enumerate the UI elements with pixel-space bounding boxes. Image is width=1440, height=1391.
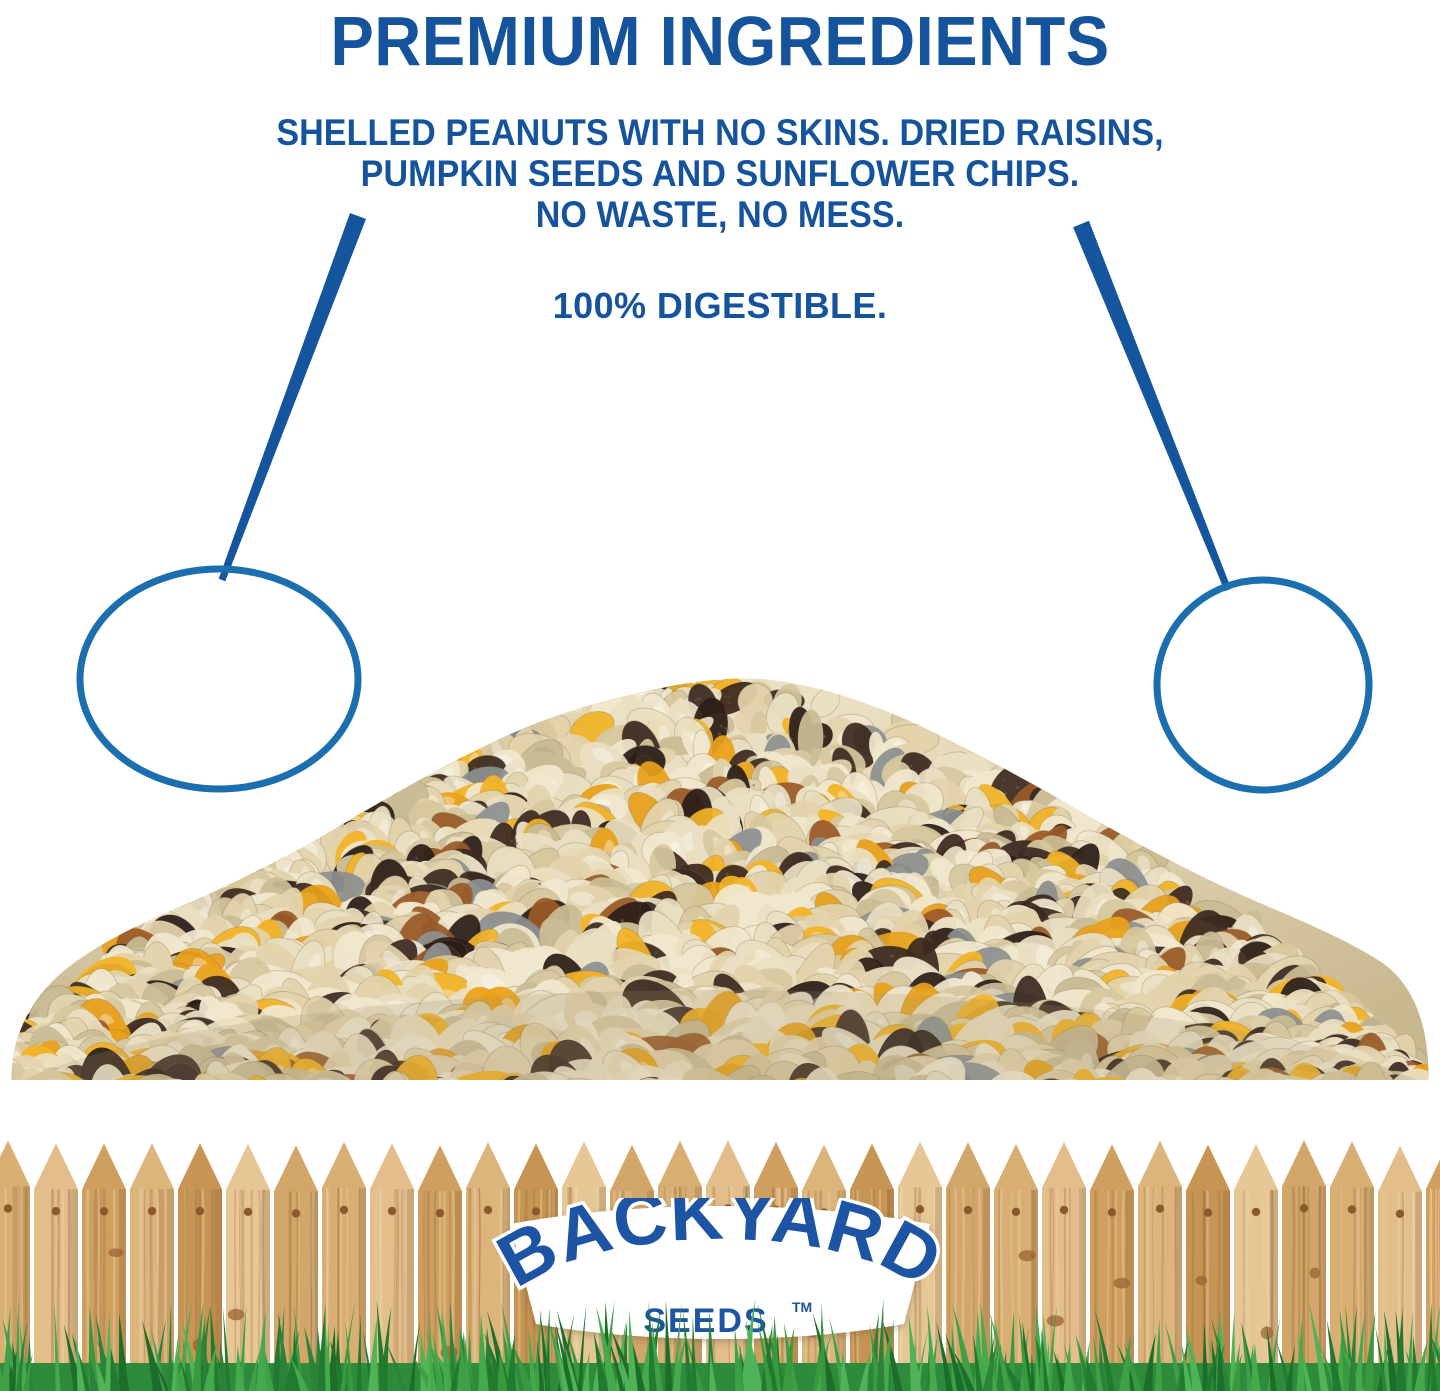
fence-knot (1019, 1250, 1036, 1261)
raisin-speckle (1247, 1080, 1249, 1082)
raisin-speckle (229, 1088, 232, 1091)
raisin-speckle (909, 1080, 912, 1083)
raisin-speckle (565, 1088, 567, 1090)
grass-blade (1155, 1319, 1162, 1391)
seed-highlight (217, 1077, 243, 1099)
seed-piece (446, 1076, 523, 1110)
raisin-speckle (439, 1102, 443, 1106)
raisin-speckle (88, 1104, 90, 1106)
raisin-speckle (726, 729, 729, 732)
seed-piece (45, 1075, 133, 1110)
seed-highlight (427, 1095, 463, 1110)
seed-piece (1204, 1077, 1247, 1110)
grass-blade (692, 1315, 697, 1391)
seed-piece (276, 1081, 336, 1110)
raisin-speckle (137, 1100, 140, 1103)
seed-piece (1046, 1078, 1111, 1110)
raisin-speckle (34, 1088, 36, 1090)
fence-nail (1012, 1208, 1020, 1216)
raisin-speckle (1030, 1103, 1032, 1105)
seed-piece (160, 1082, 236, 1110)
raisin-speckle (510, 840, 513, 843)
raisin-speckle (1318, 1098, 1321, 1101)
raisin-speckle (944, 1085, 946, 1087)
raisin-speckle (31, 1103, 34, 1106)
seed-highlight (383, 1081, 409, 1093)
seed-highlight (0, 1076, 5, 1110)
grass-blade (665, 1300, 673, 1391)
fence-nail (1348, 1205, 1356, 1213)
grass-blade (168, 1302, 173, 1391)
seed-highlight (0, 1081, 35, 1110)
seed-highlight (1407, 1104, 1440, 1110)
seed-highlight (456, 1097, 480, 1110)
raisin-speckle (390, 1086, 392, 1088)
seed-highlight (63, 1076, 94, 1106)
grass-blade (357, 1314, 362, 1391)
fence-nail (4, 1204, 12, 1212)
raisin-speckle (296, 1095, 299, 1098)
raisin-speckle (551, 1083, 553, 1085)
seed-piece (1186, 1079, 1247, 1110)
raisin-speckle (1232, 1087, 1234, 1089)
raisin-speckle (602, 1101, 605, 1104)
seed-piece (281, 1078, 380, 1110)
raisin-speckle (725, 695, 727, 697)
raisin-speckle (11, 1090, 14, 1093)
seed-highlight (732, 1098, 758, 1110)
raisin-speckle (97, 1096, 100, 1099)
raisin-speckle (378, 1085, 381, 1088)
raisin-speckle (1383, 1083, 1385, 1085)
seed-highlight (1291, 1077, 1324, 1100)
raisin-speckle (1060, 1105, 1063, 1108)
seed-piece (255, 1081, 317, 1110)
raisin-speckle (1373, 1095, 1376, 1098)
raisin-speckle (1381, 1083, 1384, 1086)
raisin-speckle (1123, 1094, 1125, 1096)
seed-piece (38, 1081, 133, 1110)
seed-highlight (3, 1084, 33, 1104)
raisin-speckle (882, 1080, 885, 1083)
seed-piece (1173, 1090, 1242, 1110)
seed-piece (29, 1076, 98, 1110)
raisin-speckle (1433, 1109, 1436, 1110)
raisin-speckle (181, 1104, 184, 1107)
seed-piece (0, 1081, 34, 1110)
seed-highlight (1380, 1083, 1403, 1110)
raisin-speckle (307, 1092, 310, 1095)
seed-piece (1094, 1077, 1143, 1110)
seed-piece (121, 1084, 209, 1110)
raisin-speckle (16, 1101, 19, 1104)
seed-piece (1276, 1075, 1330, 1110)
raisin-speckle (398, 1102, 400, 1104)
fence-nail (1252, 1208, 1260, 1216)
seed-highlight (14, 1095, 44, 1110)
raisin-speckle (1404, 1100, 1407, 1103)
raisin-speckle (255, 869, 257, 871)
seed-highlight (1169, 1075, 1185, 1108)
raisin-speckle (1419, 1086, 1421, 1088)
grass-blade (1297, 1317, 1305, 1391)
seed-highlight (1202, 1077, 1233, 1107)
product-marketing-image: PREMIUM INGREDIENTS SHELLED PEANUTS WITH… (0, 0, 1440, 1391)
fence-knot (1310, 1268, 1321, 1279)
seed-highlight (107, 1079, 125, 1110)
raisin-speckle (515, 842, 518, 845)
raisin-speckle (559, 1105, 562, 1108)
raisin-speckle (456, 751, 459, 754)
fence-nail (1060, 1206, 1068, 1214)
seed-highlight (1258, 1096, 1304, 1110)
fence-nail (196, 1207, 204, 1215)
raisin-speckle (87, 1088, 89, 1090)
raisin-speckle (1222, 1081, 1225, 1084)
raisin-speckle (1314, 1088, 1317, 1091)
fence-nail (436, 1209, 444, 1217)
fence-nail (1204, 1209, 1212, 1217)
raisin-speckle (1199, 1087, 1202, 1090)
raisin-speckle (390, 1085, 393, 1088)
seed-highlight (282, 1081, 298, 1102)
grass-blade (877, 1299, 885, 1391)
raisin-speckle (21, 1091, 23, 1093)
fence-nail (1300, 1204, 1308, 1212)
seed-highlight (1323, 1086, 1346, 1106)
seed-piece (441, 1088, 501, 1110)
raisin-speckle (395, 1108, 398, 1110)
seed-highlight (0, 1081, 11, 1107)
raisin-speckle (1364, 1088, 1366, 1090)
seed-highlight (1238, 1092, 1257, 1110)
seed-highlight (1413, 1080, 1436, 1110)
seed-piece (694, 1083, 775, 1110)
fence-knot (1196, 1276, 1208, 1286)
raisin-speckle (1114, 1091, 1117, 1094)
raisin-speckle (1366, 1086, 1369, 1089)
grass-blade (629, 1309, 638, 1391)
raisin-speckle (1247, 1085, 1250, 1088)
seed-piece (1376, 1085, 1440, 1110)
raisin-speckle (1264, 1092, 1266, 1094)
raisin-speckle (1211, 1101, 1214, 1104)
raisin-speckle (0, 1103, 2, 1106)
seed-highlight (281, 1102, 306, 1110)
raisin-speckle (1044, 1096, 1047, 1099)
fence-knot (109, 1248, 124, 1257)
seed-highlight (248, 1093, 272, 1110)
seed-piece (1269, 1077, 1314, 1110)
raisin-speckle (408, 1093, 411, 1096)
raisin-speckle (518, 1098, 521, 1101)
raisin-speckle (5, 1093, 8, 1096)
seed-highlight (1184, 1090, 1211, 1107)
page-title: PREMIUM INGREDIENTS (50, 4, 1389, 78)
fence-nail (484, 1206, 492, 1214)
seed-piece (705, 1076, 769, 1110)
raisin-speckle (387, 1094, 390, 1097)
raisin-speckle (493, 1109, 495, 1110)
raisin-speckle (17, 1088, 20, 1091)
raisin-speckle (621, 919, 624, 922)
raisin-speckle (299, 1088, 302, 1091)
raisin-speckle (449, 1093, 451, 1095)
raisin-speckle (1424, 1096, 1427, 1099)
raisin-speckle (482, 1082, 484, 1084)
seed-piece (0, 1076, 17, 1110)
raisin-speckle (474, 1088, 477, 1091)
fence-nail (292, 1209, 300, 1217)
raisin-speckle (1316, 1082, 1319, 1085)
raisin-speckle (1393, 1105, 1396, 1108)
raisin-speckle (1261, 1094, 1264, 1097)
seed-piece (0, 1079, 53, 1110)
raisin-speckle (457, 756, 459, 758)
seed-highlight (18, 1083, 42, 1110)
grass-blade (256, 1310, 267, 1391)
fence-nail (100, 1207, 108, 1215)
seed-highlight (24, 1084, 54, 1108)
seed-piece (1043, 1076, 1100, 1110)
raisin-speckle (298, 1094, 302, 1098)
raisin-speckle (5, 1097, 7, 1099)
raisin-speckle (49, 1102, 51, 1104)
seed-piece (1272, 1083, 1346, 1110)
raisin-speckle (431, 1097, 433, 1099)
grass-blade (821, 1301, 827, 1391)
raisin-speckle (1417, 1094, 1419, 1096)
raisin-speckle (1223, 1106, 1225, 1108)
raisin-speckle (698, 698, 701, 701)
seed-highlight (359, 782, 380, 801)
raisin-speckle (1229, 1106, 1231, 1108)
raisin-speckle (0, 1092, 1, 1094)
seed-piece (183, 1076, 241, 1110)
raisin-speckle (1380, 1081, 1382, 1083)
fence-nail (1108, 1208, 1116, 1216)
raisin-speckle (1317, 1082, 1320, 1085)
seed-highlight (367, 1083, 395, 1110)
raisin-speckle (578, 1089, 581, 1092)
raisin-speckle (179, 1094, 182, 1097)
raisin-speckle (1352, 1082, 1354, 1084)
seed-highlight (1391, 1078, 1413, 1104)
raisin-speckle (600, 1107, 602, 1109)
seed-highlight (1408, 1087, 1434, 1110)
raisin-speckle (59, 1099, 62, 1102)
raisin-speckle (458, 752, 460, 754)
subtitle-line-1: SHELLED PEANUTS WITH NO SKINS. DRIED RAI… (58, 112, 1383, 153)
raisin-speckle (17, 1104, 19, 1106)
raisin-speckle (16, 1096, 19, 1099)
raisin-speckle (1394, 1084, 1397, 1087)
seed-highlight (33, 1081, 53, 1110)
raisin-speckle (126, 1099, 129, 1102)
raisin-speckle (42, 1099, 44, 1101)
raisin-speckle (415, 857, 418, 860)
seed-piece (1215, 1079, 1267, 1110)
subtitle-line-2: PUMPKIN SEEDS AND SUNFLOWER CHIPS. (58, 153, 1383, 194)
raisin-speckle (370, 1088, 373, 1091)
raisin-speckle (0, 1101, 1, 1103)
raisin-speckle (315, 1092, 318, 1095)
raisin-speckle (143, 1085, 146, 1088)
seed-highlight (1367, 1085, 1394, 1110)
raisin-speckle (956, 1089, 959, 1092)
seed-highlight (467, 1084, 504, 1104)
seed-piece (110, 1075, 171, 1110)
fence-nail (148, 1207, 156, 1215)
raisin-speckle (120, 1109, 122, 1110)
seed-piece (871, 1096, 945, 1110)
raisin-speckle (254, 1100, 257, 1103)
raisin-speckle (10, 1106, 13, 1109)
raisin-speckle (110, 1095, 113, 1098)
raisin-speckle (1106, 1090, 1108, 1092)
fence-nail (244, 1208, 252, 1216)
seed-highlight (513, 1088, 550, 1110)
raisin-speckle (0, 1082, 1, 1084)
raisin-speckle (695, 699, 697, 701)
raisin-speckle (1374, 1091, 1377, 1094)
raisin-speckle (1292, 1102, 1295, 1105)
seed-highlight (20, 1078, 44, 1108)
raisin-speckle (1382, 1084, 1384, 1086)
raisin-speckle (1314, 1101, 1317, 1104)
seed-piece (183, 1078, 251, 1110)
seed-piece (630, 1079, 714, 1110)
fence-nail (388, 1207, 396, 1215)
raisin-speckle (1332, 1090, 1335, 1093)
raisin-speckle (295, 1088, 299, 1092)
raisin-speckle (19, 1103, 23, 1107)
seed-highlight (58, 1078, 80, 1105)
raisin-speckle (1393, 1100, 1396, 1103)
fence-nail (52, 1207, 60, 1215)
raisin-speckle (144, 1089, 146, 1091)
raisin-speckle (1016, 786, 1019, 789)
raisin-speckle (1231, 1100, 1234, 1103)
seed-piece (233, 1083, 293, 1110)
raisin-speckle (436, 1089, 439, 1092)
raisin-speckle (1212, 1088, 1214, 1090)
raisin-speckle (275, 1101, 278, 1104)
raisin-speckle (13, 1104, 15, 1106)
seed-highlight (18, 1079, 62, 1109)
raisin-speckle (1382, 1084, 1384, 1086)
raisin-speckle (1177, 1096, 1180, 1099)
seed-piece (1377, 1078, 1440, 1110)
raisin-speckle (402, 1097, 404, 1099)
fence-nail (340, 1206, 348, 1214)
raisin-speckle (19, 1109, 22, 1110)
raisin-speckle (724, 727, 726, 729)
raisin-speckle (1003, 779, 1005, 781)
seed-piece (443, 1086, 527, 1110)
seed-piece (0, 1077, 56, 1110)
seed-piece (122, 1077, 199, 1110)
raisin-speckle (19, 1092, 22, 1095)
raisin-speckle (1225, 1081, 1229, 1085)
seed-highlight (311, 799, 337, 824)
raisin-speckle (416, 1105, 418, 1107)
seed-highlight (396, 1085, 410, 1110)
seed-pile-graphic (0, 380, 1440, 1110)
raisin-speckle (483, 1081, 486, 1084)
seed-piece (1364, 1076, 1440, 1110)
raisin-speckle (718, 732, 721, 735)
raisin-speckle (297, 1104, 299, 1106)
seed-highlight (1326, 1086, 1359, 1107)
raisin-speckle (929, 1081, 931, 1083)
seed-highlight (396, 769, 414, 781)
raisin-speckle (169, 1092, 172, 1095)
raisin-speckle (460, 1092, 463, 1095)
seed-highlight (142, 1093, 183, 1110)
grass-graphic (0, 1285, 1440, 1391)
raisin-speckle (529, 1105, 532, 1108)
seed-piece (1371, 1075, 1440, 1110)
seed-highlight (3, 1093, 47, 1110)
raisin-speckle (124, 1105, 127, 1108)
seed-highlight (135, 1101, 160, 1110)
raisin-speckle (182, 1094, 185, 1097)
raisin-speckle (910, 765, 912, 767)
raisin-speckle (1390, 1085, 1392, 1087)
raisin-speckle (926, 1095, 928, 1097)
raisin-speckle (824, 736, 827, 739)
raisin-speckle (162, 1104, 164, 1106)
raisin-speckle (489, 1084, 492, 1087)
raisin-speckle (279, 1094, 281, 1096)
raisin-speckle (729, 696, 731, 698)
raisin-speckle (1151, 1103, 1153, 1105)
raisin-speckle (396, 1095, 399, 1098)
seed-highlight (211, 1098, 252, 1110)
raisin-speckle (406, 1102, 408, 1104)
seed-piece (1274, 1077, 1352, 1110)
raisin-speckle (124, 1092, 126, 1094)
fence-nail (964, 1206, 972, 1214)
raisin-speckle (302, 1097, 305, 1100)
seed-highlight (1096, 1094, 1130, 1110)
seed-highlight (1344, 1081, 1373, 1102)
raisin-speckle (51, 1091, 53, 1093)
seed-piece (0, 1085, 74, 1110)
raisin-speckle (891, 955, 894, 958)
raisin-speckle (1046, 1095, 1049, 1098)
seed-highlight (0, 1087, 18, 1110)
raisin-speckle (394, 1099, 396, 1101)
seed-highlight (757, 1089, 780, 1110)
raisin-speckle (1332, 1108, 1335, 1110)
raisin-speckle (1228, 1081, 1230, 1083)
seed-highlight (1276, 1077, 1306, 1109)
raisin-speckle (8, 1077, 11, 1080)
grass-blade (119, 1313, 129, 1391)
seed-piece (13, 1084, 82, 1110)
raisin-speckle (728, 702, 730, 704)
raisin-speckle (399, 1094, 402, 1097)
raisin-speckle (122, 1088, 124, 1090)
raisin-speckle (1369, 1091, 1371, 1093)
raisin-speckle (1326, 1096, 1329, 1099)
walnut-piece (640, 386, 888, 513)
seed-highlight (720, 1079, 755, 1110)
raisin-speckle (1352, 1102, 1355, 1105)
raisin-speckle (299, 1098, 301, 1100)
